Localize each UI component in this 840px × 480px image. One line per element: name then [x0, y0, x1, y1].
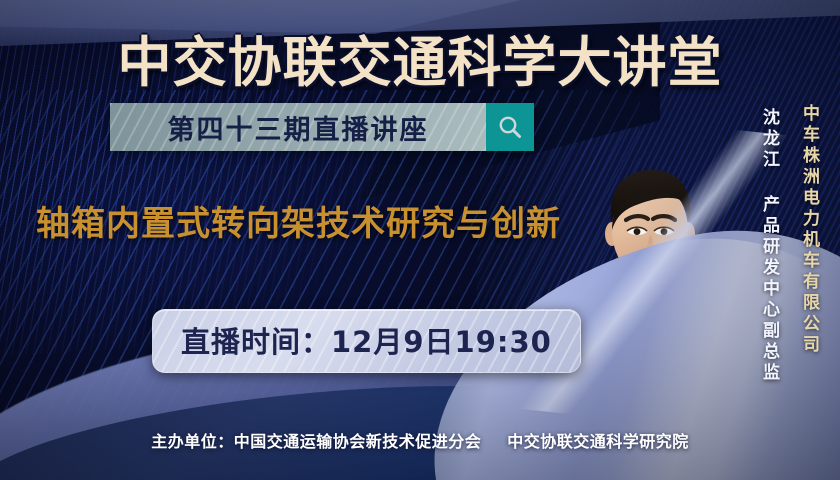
- episode-banner: 第四十三期直播讲座: [110, 103, 534, 151]
- broadcast-time-text: 直播时间：12月9日19:30: [181, 325, 552, 359]
- page-title: 中交协联交通科学大讲堂: [0, 18, 840, 97]
- lecture-topic-title: 轴箱内置式转向架技术研究与创新: [36, 196, 561, 245]
- episode-banner-body: 第四十三期直播讲座: [110, 103, 486, 151]
- background-silk-edge: [513, 110, 793, 434]
- speaker-credit: 沈龙江 产品研发中心副总监: [757, 108, 782, 384]
- broadcast-time-badge: 直播时间：12月9日19:30: [152, 309, 581, 373]
- webinar-poster: 中交协联交通科学大讲堂 第四十三期直播讲座 轴箱内置式转向架技术研究与创新 直播…: [0, 0, 840, 480]
- organizer-primary: 中国交通运输协会新技术促进分会: [234, 432, 482, 451]
- footer-organizers: 主办单位：中国交通运输协会新技术促进分会中交协联交通科学研究院: [0, 428, 840, 452]
- episode-label: 第四十三期直播讲座: [168, 108, 429, 147]
- organizer-label: 主办单位：: [151, 432, 234, 451]
- organizer-secondary: 中交协联交通科学研究院: [507, 432, 689, 451]
- search-icon[interactable]: [486, 103, 534, 151]
- company-credit: 中车株洲电力机车有限公司: [797, 104, 822, 356]
